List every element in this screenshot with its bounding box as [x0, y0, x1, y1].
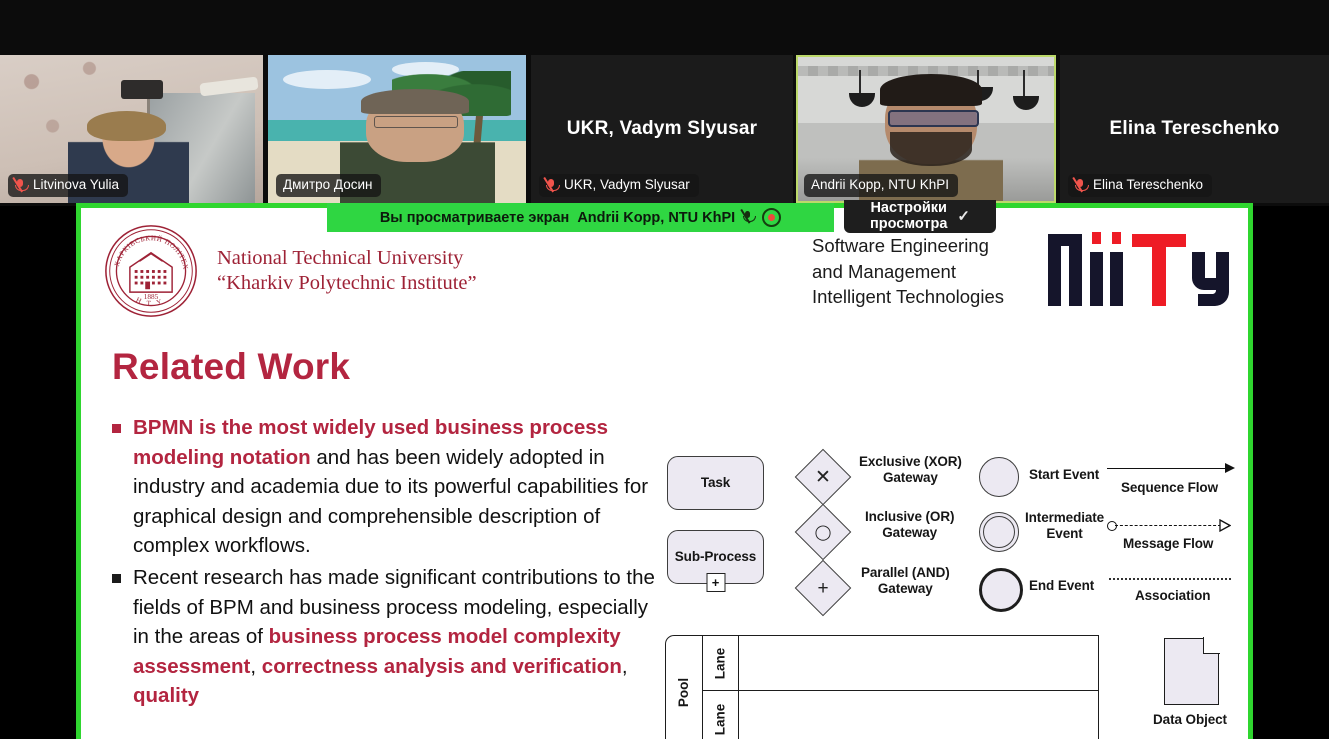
participant-tile-2[interactable]: Дмитро Досин: [268, 55, 526, 203]
bpmn-exclusive-gateway-icon: ✕: [795, 449, 852, 506]
presentation-slide: ХАРКІВСЬКИЙ ПОЛІТЕХНІЧНИЙ ІНСТИТУТ Н Т У…: [81, 208, 1248, 739]
department-name: Software Engineering and Management Inte…: [812, 233, 1062, 310]
view-settings-label: Настройки просмотра: [870, 201, 947, 232]
view-settings-button[interactable]: Настройки просмотра ✓: [844, 200, 996, 233]
bullet-text-1: BPMN is the most widely used business pr…: [133, 413, 657, 561]
view-settings-line1: Настройки: [870, 200, 947, 216]
xor-line2: Gateway: [859, 470, 962, 486]
bullet-2-highlight-2: correctness analysis and verification: [262, 655, 622, 678]
participant-name-badge: UKR, Vadym Slyusar: [539, 174, 699, 197]
lane-divider: [702, 690, 1098, 691]
bpmn-intermediate-event-icon: [979, 512, 1019, 552]
participant-name-badge: Дмитро Досин: [276, 174, 381, 197]
bpmn-data-object-icon: [1164, 638, 1219, 705]
participant-name-badge: Litvinova Yulia: [8, 174, 128, 197]
microphone-muted-icon: [743, 210, 754, 225]
view-settings-line2: просмотра: [870, 216, 947, 232]
participant-name: Litvinova Yulia: [33, 177, 119, 193]
department-line3: Intelligent Technologies: [812, 284, 1062, 310]
association-label: Association: [1135, 588, 1210, 604]
bpmn-inclusive-gateway-label: Inclusive (OR) Gateway: [865, 509, 954, 541]
bpmn-parallel-gateway-icon: +: [795, 560, 852, 617]
plus-expand-icon: +: [706, 573, 725, 592]
participant-tile-3[interactable]: UKR, Vadym Slyusar UKR, Vadym Slyusar: [531, 55, 793, 203]
message-flow-label: Message Flow: [1123, 536, 1213, 552]
inter-line2: Event: [1025, 526, 1104, 542]
bpmn-pool-shape: Pool Lane Lane: [665, 635, 1099, 739]
microphone-muted-icon: [546, 178, 558, 193]
shared-screen-region[interactable]: ХАРКІВСЬКИЙ ПОЛІТЕХНІЧНИЙ ІНСТИТУТ Н Т У…: [76, 203, 1253, 739]
message-flow-start-icon: [1107, 521, 1117, 531]
bullet-2-sep-1: ,: [250, 655, 261, 678]
bullet-item-1: BPMN is the most widely used business pr…: [112, 413, 657, 561]
bpmn-notation-legend: Task Sub-Process + ✕ Exclusive (XOR) Gat…: [659, 448, 1244, 739]
participant-name: Дмитро Досин: [283, 177, 372, 193]
bpmn-task-shape: Task: [667, 456, 764, 510]
participant-name: Elina Tereschenko: [1093, 177, 1203, 193]
bullet-text-2: Recent research has made significant con…: [133, 563, 657, 711]
department-line2: and Management: [812, 259, 1062, 285]
microphone-muted-icon: [1075, 178, 1087, 193]
bullet-2-highlight-3: quality: [133, 684, 199, 707]
message-flow-line: [1115, 525, 1221, 526]
bullet-2-sep-2: ,: [622, 655, 628, 678]
or-glyph: ◯: [804, 513, 842, 551]
video-participant-strip: Litvinova Yulia Дмитро Досин UKR, Vadym …: [0, 0, 1329, 206]
university-name-line1: National Technical University: [217, 246, 477, 271]
message-flow-arrow-icon: [1219, 519, 1231, 532]
university-name-line2: “Kharkiv Polytechnic Institute”: [217, 271, 477, 296]
participant-name: Andrii Kopp, NTU KhPI: [811, 177, 949, 193]
data-object-label: Data Object: [1140, 712, 1240, 728]
bpmn-inclusive-gateway-icon: ◯: [795, 504, 852, 561]
xor-line1: Exclusive (XOR): [859, 454, 962, 470]
bpmn-start-event-icon: [979, 457, 1019, 497]
and-line1: Parallel (AND): [861, 565, 950, 581]
bpmn-end-event-label: End Event: [1029, 578, 1094, 594]
participant-name-badge: Elina Tereschenko: [1068, 174, 1212, 197]
bpmn-parallel-gateway-label: Parallel (AND) Gateway: [861, 565, 950, 597]
participant-name: UKR, Vadym Slyusar: [564, 177, 690, 193]
bpmn-subprocess-shape: Sub-Process +: [667, 530, 764, 584]
participant-tile-5[interactable]: Elina Tereschenko Elina Tereschenko: [1060, 55, 1329, 203]
department-line1: Software Engineering: [812, 233, 1062, 259]
association-line: [1109, 578, 1231, 580]
inter-line1: Intermediate: [1025, 510, 1104, 526]
lane-header-2: Lane: [702, 691, 739, 739]
sequence-flow-line: [1107, 468, 1229, 469]
xor-glyph: ✕: [804, 458, 842, 496]
check-icon: ✓: [957, 209, 970, 225]
bpmn-intermediate-event-label: Intermediate Event: [1025, 510, 1104, 542]
share-banner-presenter: Andrii Kopp, NTU KhPI: [577, 210, 735, 226]
slide-bullet-list: BPMN is the most widely used business pr…: [112, 413, 657, 713]
recording-indicator-icon: [762, 208, 781, 227]
and-glyph: +: [804, 569, 842, 607]
sequence-flow-label: Sequence Flow: [1121, 480, 1218, 496]
bpmn-end-event-icon: [979, 568, 1023, 612]
participant-tile-1[interactable]: Litvinova Yulia: [0, 55, 263, 203]
participant-name-badge: Andrii Kopp, NTU KhPI: [804, 174, 958, 197]
and-line2: Gateway: [861, 581, 950, 597]
or-line2: Gateway: [865, 525, 954, 541]
lane-label-1: Lane: [712, 647, 727, 679]
bpmn-start-event-label: Start Event: [1029, 467, 1099, 483]
lane-header-1: Lane: [702, 636, 739, 690]
or-line1: Inclusive (OR): [865, 509, 954, 525]
university-name: National Technical University “Kharkiv P…: [217, 246, 477, 296]
bpmn-task-label: Task: [701, 475, 730, 491]
university-seal-icon: ХАРКІВСЬКИЙ ПОЛІТЕХНІЧНИЙ ІНСТИТУТ Н Т У…: [103, 223, 199, 319]
participant-center-name: Elina Tereschenko: [1060, 118, 1329, 140]
bpmn-subprocess-label: Sub-Process: [675, 549, 756, 565]
bullet-marker-icon: [112, 424, 121, 433]
lane-label-2: Lane: [712, 703, 727, 735]
participant-center-name: UKR, Vadym Slyusar: [531, 118, 793, 140]
sequence-flow-arrow-icon: [1225, 463, 1235, 473]
share-banner-text: Вы просматриваете экран: [380, 210, 570, 226]
pool-header: Pool: [666, 636, 703, 739]
svg-text:1885: 1885: [144, 293, 159, 301]
pool-label: Pool: [677, 677, 692, 706]
piity-logo-icon: [1046, 228, 1236, 312]
bullet-item-2: Recent research has made significant con…: [112, 563, 657, 711]
screen-share-banner: Вы просматриваете экран Andrii Kopp, NTU…: [327, 203, 834, 232]
slide-title: Related Work: [112, 346, 350, 388]
participant-tile-4-active-speaker[interactable]: Andrii Kopp, NTU KhPI: [796, 55, 1056, 203]
bpmn-exclusive-gateway-label: Exclusive (XOR) Gateway: [859, 454, 962, 486]
microphone-muted-icon: [15, 178, 27, 193]
bullet-marker-icon: [112, 574, 121, 583]
